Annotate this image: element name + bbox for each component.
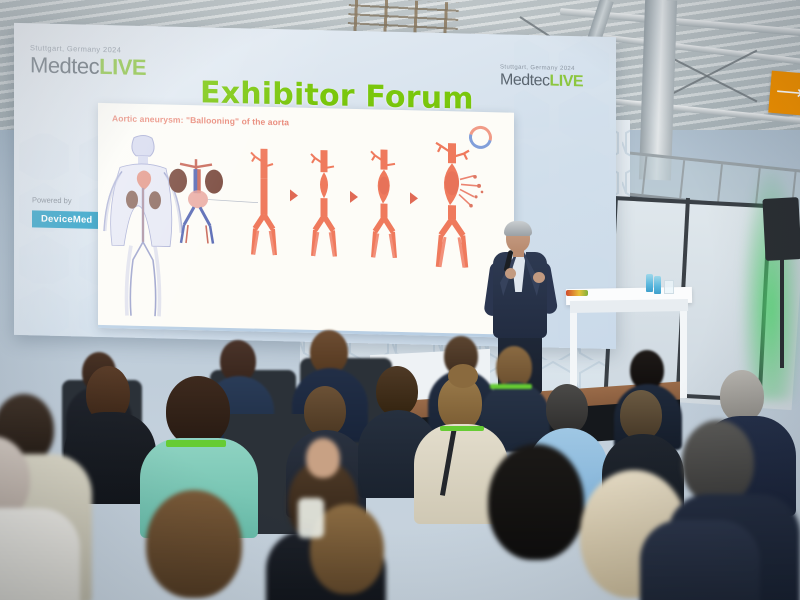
green-lanyard [166,440,226,447]
pa-loudspeaker [762,197,800,261]
audience-head-dark-hair [488,444,584,560]
water-bottle [654,276,661,294]
audience-head [146,490,242,598]
audience-head-with-curly-hair [166,376,230,446]
snack-tray [566,290,588,296]
audience-head [620,390,662,440]
drink-cup [298,498,324,538]
presenter-hand-holding-mic [505,268,516,279]
orange-direction-sign: ⟶ [768,71,800,116]
conference-photo-scene: ⟶ [0,0,800,600]
audience-hand [306,438,340,478]
green-lanyard [440,426,484,431]
audience-torso-white [0,508,80,600]
audience-head [682,420,754,504]
audience-head [376,366,418,416]
audience-head-gray-hair [720,370,764,422]
drinking-glass [664,280,674,294]
audience-head [546,384,588,434]
audience-seating-area [0,330,800,600]
left-arrow-icon: ⟶ [775,85,800,101]
presenter-gesturing-hand [533,272,545,283]
green-lanyard [490,384,532,389]
audience-torso [640,520,760,600]
water-bottle [646,274,653,292]
audience-head [304,386,346,436]
presenter-hair [504,221,532,236]
hair-bun [448,364,478,388]
table-apron [570,299,688,313]
